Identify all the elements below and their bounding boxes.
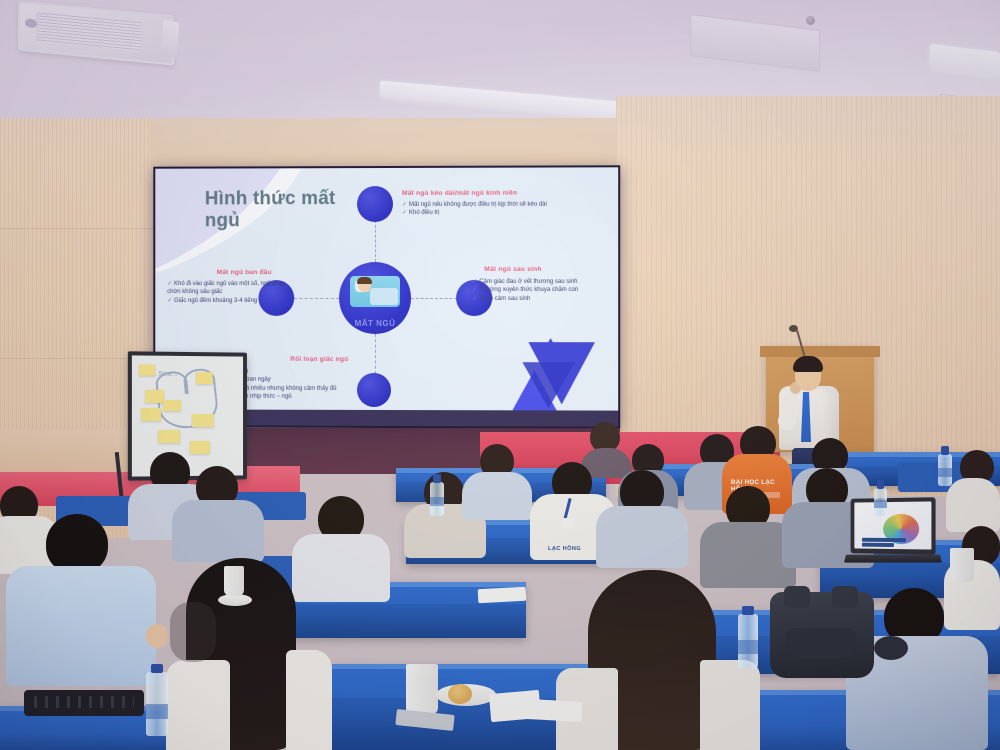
laptop-lid — [851, 497, 936, 554]
branch-label-right: Mất ngủ sau sinh — [484, 266, 541, 273]
shirt-text-lac-hong-2: LẠC HỒNG — [548, 546, 582, 553]
blanket — [370, 288, 398, 305]
slide-title-line1: Hình thức mất — [205, 188, 374, 210]
sticky-note — [163, 400, 181, 411]
paper-cup — [406, 664, 438, 714]
branch-label-left: Mất ngủ ban đầu — [217, 269, 272, 276]
fire-sprinkler-icon — [806, 16, 815, 25]
presenter-hair — [793, 356, 823, 372]
paper-cup — [224, 566, 244, 596]
sticky-note — [145, 390, 164, 403]
branch-bullets-bottom: Mất ngủ Ngủ rũ ban ngày Ngủ quá nhiều nh… — [227, 368, 366, 401]
sticky-note — [139, 365, 155, 376]
backpack-pocket — [874, 636, 908, 660]
open-laptop[interactable] — [845, 498, 941, 568]
connector-bottom — [375, 334, 376, 374]
bullet: Khó đi vào giấc ngủ vào một số, ngủ chập… — [167, 281, 285, 295]
id-badge — [562, 518, 575, 528]
water-bottle — [938, 446, 952, 486]
laptop-screen — [854, 501, 931, 549]
vent-grill — [36, 12, 142, 51]
child-hair — [357, 277, 372, 284]
blouse-right — [286, 650, 332, 750]
sticky-note — [190, 441, 210, 454]
branch-bullets-left: ✓Khó đi vào giấc ngủ vào một số, ngủ chậ… — [167, 280, 291, 305]
connector-right — [411, 298, 457, 299]
branch-label-bottom: Rối loạn giấc ngủ — [290, 356, 348, 363]
paper-sheet — [478, 587, 527, 603]
water-bottle — [874, 480, 887, 516]
bullet: Thường xuyên thức khuya chăm con — [479, 287, 578, 293]
sticky-note — [196, 372, 213, 384]
laptop-keyboard-base[interactable] — [844, 555, 942, 563]
paper-sheet — [512, 698, 583, 722]
bullet: Mất ngủ nếu không được điều trị kịp thời… — [409, 202, 547, 208]
microphone-icon — [789, 325, 798, 332]
branch-bullets-right: ✓Cảm giác đau ở vết thương sau sinh ✓Thư… — [472, 278, 603, 303]
connector-left — [294, 298, 339, 299]
slide-decor-triangles — [512, 342, 593, 414]
node-top — [357, 186, 393, 222]
branch-bullets-top: ✓Mất ngủ nếu không được điều trị kịp thờ… — [402, 201, 578, 218]
water-bottle — [738, 606, 758, 668]
bullet: Trầm cảm sau sinh — [479, 296, 530, 302]
vent-lip — [161, 20, 179, 58]
sticky-note — [158, 430, 180, 443]
branch-label-top: Mất ngủ kéo dài/mất ngủ kinh niên — [402, 190, 517, 197]
slide-title-line2: ngủ — [205, 210, 374, 232]
backpack — [770, 592, 874, 678]
paper-cup — [950, 548, 974, 582]
vent-knob — [25, 18, 37, 28]
water-bottle — [430, 474, 444, 516]
node-center-sleeping-child-icon: MẤT NGỦ — [339, 262, 411, 334]
bullet: Cảm giác đau ở vết thương sau sinh — [479, 279, 577, 285]
sticky-note — [141, 408, 161, 421]
conference-room-photo: Hình thức mất ngủ MẤT NGỦ — [0, 0, 1000, 750]
pastry — [448, 684, 472, 704]
bullet: Giấc ngủ đêm khoảng 3-4 tiếng — [174, 298, 257, 304]
slide-title: Hình thức mất ngủ — [205, 188, 374, 232]
connector-top — [375, 220, 376, 262]
water-bottle — [146, 664, 168, 736]
sticky-note — [192, 414, 214, 427]
screen-text-line-2 — [862, 542, 894, 546]
chair-perforation — [34, 696, 134, 708]
hand — [146, 624, 168, 648]
bullet: Khó điều trị — [409, 210, 439, 216]
blouse — [166, 660, 230, 750]
center-caption: MẤT NGỦ — [339, 319, 411, 328]
